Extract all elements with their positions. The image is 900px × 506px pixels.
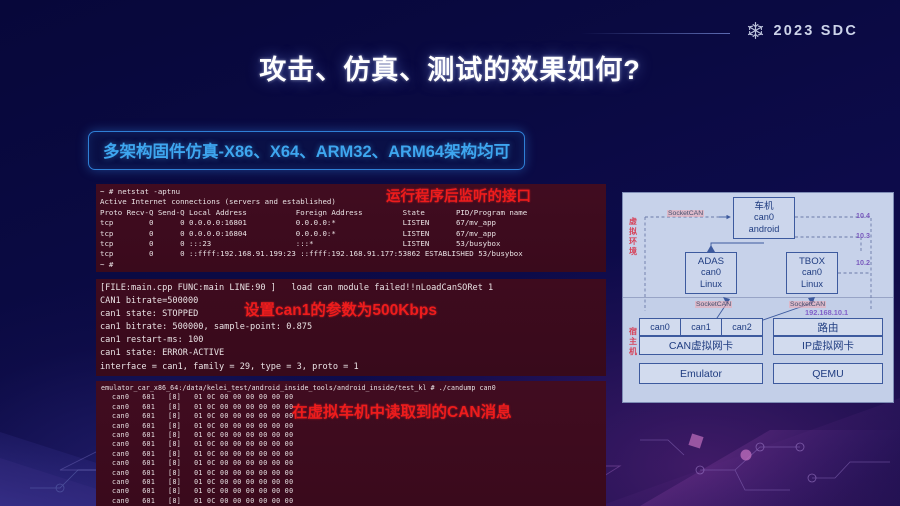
node-adas-iface: can0	[701, 267, 721, 278]
can-channel-cell: can2	[721, 319, 762, 335]
box-ip-virtual-nic: IP虚拟网卡	[773, 336, 883, 355]
terminal-line: can0 601 [8] 01 0C 00 00 00 00 00 00	[101, 431, 602, 440]
node-head-unit: 车机 can0 android	[733, 197, 795, 239]
terminal-line: can0 601 [8] 01 0C 00 00 00 00 00 00	[101, 497, 602, 506]
terminal-line: can1 bitrate: 500000, sample-point: 0.87…	[100, 321, 602, 334]
terminal-line: can0 601 [8] 01 0C 00 00 00 00 00 00	[101, 459, 602, 468]
ip-label-adas: 10.3	[856, 231, 870, 240]
terminal-line: can0 601 [8] 01 0C 00 00 00 00 00 00	[101, 478, 602, 487]
header-rule	[580, 33, 730, 34]
can-channel-cell: can0	[640, 319, 680, 335]
terminal-line: can0 601 [8] 01 0C 00 00 00 00 00 00	[101, 450, 602, 459]
node-tbox-name: TBOX	[799, 256, 825, 267]
terminal-line: tcp 0 0 ::ffff:192.168.91.199:23 ::ffff:…	[100, 249, 602, 259]
can-channel-cell: can1	[680, 319, 721, 335]
page-title: 攻击、仿真、测试的效果如何?	[0, 48, 900, 87]
subtitle-pill: 多架构固件仿真-X86、X64、ARM32、ARM64架构均可	[88, 131, 525, 170]
zone-label-virtual: 虚拟环境	[627, 217, 639, 257]
annotation-candump: 在虚拟车机中读取到的CAN消息	[292, 400, 512, 422]
box-router: 路由	[773, 318, 883, 336]
terminal-line: can0 601 [8] 01 0C 00 00 00 00 00 00	[101, 469, 602, 478]
architecture-diagram: 虚拟环境 宿主机 车机 can0 android ADAS can0 Linux…	[622, 192, 894, 403]
link-label-socketcan-tbox: SocketCAN	[789, 301, 826, 308]
box-emulator: Emulator	[639, 363, 763, 384]
annotation-netstat: 运行程序后监听的接口	[386, 185, 531, 206]
annotation-can-config: 设置can1的参数为500Kbps	[244, 298, 437, 320]
sdc-logo: 2023 SDC	[746, 21, 859, 40]
terminal-line: can1 state: ERROR-ACTIVE	[100, 347, 602, 360]
zone-label-host: 宿主机	[627, 327, 639, 357]
terminal-line: tcp 0 0 0.0.0.0:16804 0.0.0.0:* LISTEN 6…	[100, 229, 602, 239]
node-head-unit-name: 车机	[754, 201, 773, 212]
box-qemu: QEMU	[773, 363, 883, 384]
node-adas-name: ADAS	[698, 256, 724, 267]
ip-label-tbox: 10.2	[856, 258, 870, 267]
terminal-line: can0 601 [8] 01 0C 00 00 00 00 00 00	[101, 422, 602, 431]
snowflake-icon	[746, 21, 765, 40]
link-label-socketcan-adas: SocketCAN	[695, 301, 732, 308]
terminal-line: tcp 0 0 :::23 :::* LISTEN 53/busybox	[100, 239, 602, 249]
node-head-unit-iface: can0	[754, 212, 774, 223]
node-head-unit-os: android	[749, 224, 780, 235]
node-adas-os: Linux	[700, 279, 722, 290]
box-can-virtual-nic: CAN虚拟网卡	[639, 336, 763, 355]
link-label-socketcan-top: SocketCAN	[667, 210, 704, 217]
brand-label: 2023 SDC	[774, 23, 859, 39]
terminal-line: can0 601 [8] 01 0C 00 00 00 00 00 00	[101, 440, 602, 449]
terminal-line: interface = can1, family = 29, type = 3,…	[100, 361, 602, 374]
node-tbox-os: Linux	[801, 279, 823, 290]
terminal-line: Proto Recv-Q Send-Q Local Address Foreig…	[100, 208, 602, 218]
terminal-line: [FILE:main.cpp FUNC:main LINE:90 ] load …	[100, 282, 602, 295]
node-tbox-iface: can0	[802, 267, 822, 278]
ip-label-router: 192.168.10.1	[805, 308, 848, 317]
terminal-line: can1 restart-ms: 100	[100, 334, 602, 347]
node-tbox: TBOX can0 Linux	[786, 252, 838, 294]
ip-label-head-unit: 10.4	[856, 211, 870, 220]
terminal-line: can0 601 [8] 01 0C 00 00 00 00 00 00	[101, 487, 602, 496]
node-adas: ADAS can0 Linux	[685, 252, 737, 294]
terminal-line: ~ #	[100, 260, 602, 270]
terminal-line: tcp 0 0 0.0.0.0:16801 0.0.0.0:* LISTEN 6…	[100, 218, 602, 228]
slide-root: 2023 SDC 攻击、仿真、测试的效果如何? 多架构固件仿真-X86、X64、…	[0, 0, 900, 506]
can-channel-row: can0can1can2	[639, 318, 763, 336]
terminal-line: emulator_car_x86_64:/data/kelei_test/and…	[101, 384, 602, 393]
terminal-can-config: [FILE:main.cpp FUNC:main LINE:90 ] load …	[96, 279, 606, 376]
